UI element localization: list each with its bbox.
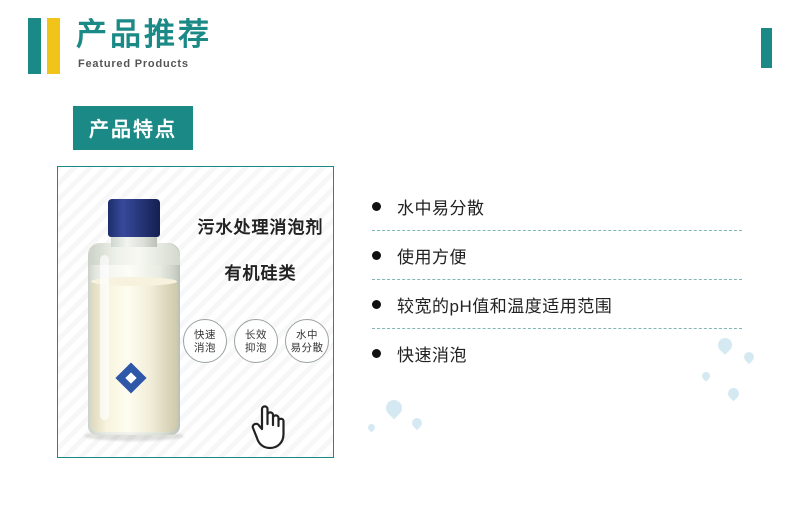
feature-text: 快速消泡 [397,341,467,366]
feature-text: 较宽的pH值和温度适用范围 [397,292,612,317]
list-item: 使用方便 [372,231,742,280]
water-droplet-icon [726,386,742,402]
header-accent-bar-right [761,28,772,68]
bottle-highlight [100,255,109,420]
feature-text: 使用方便 [397,243,467,268]
badge-water-dispersible: 水中 易分散 [285,319,329,363]
product-bottle-illustration [80,199,188,439]
page-title: 产品推荐 [76,16,212,54]
feature-list: 水中易分散 使用方便 较宽的pH值和温度适用范围 快速消泡 [372,182,742,377]
badge-line-2: 消泡 [184,342,226,355]
water-droplet-icon [742,350,756,364]
bullet-icon [372,300,381,309]
product-type: 有机硅类 [188,259,333,284]
badge-line-1: 长效 [235,329,277,342]
product-name: 污水处理消泡剂 [188,213,333,238]
badge-long-lasting: 长效 抑泡 [234,319,278,363]
header-accent-bar-teal [28,18,41,74]
section-title: 产品特点 [73,106,193,150]
bullet-icon [372,251,381,260]
page-subtitle: Featured Products [78,58,189,70]
bullet-icon [372,202,381,211]
badge-line-2: 抑泡 [235,342,277,355]
water-droplet-icon [410,416,424,430]
bullet-icon [372,349,381,358]
product-badges: 快速 消泡 长效 抑泡 水中 易分散 [183,319,333,369]
badge-fast-defoam: 快速 消泡 [183,319,227,363]
product-image-panel: 污水处理消泡剂 有机硅类 快速 消泡 长效 抑泡 水中 易分散 [57,166,334,458]
bottle-cap [108,199,160,237]
water-droplet-icon [367,423,377,433]
header-accent-bar-yellow [47,18,60,74]
water-droplet-icon [383,397,406,420]
hand-cursor-icon [248,399,292,451]
list-item: 快速消泡 [372,329,742,377]
badge-line-1: 水中 [286,329,328,342]
list-item: 水中易分散 [372,182,742,231]
feature-text: 水中易分散 [397,194,485,219]
badge-line-2: 易分散 [286,342,328,355]
list-item: 较宽的pH值和温度适用范围 [372,280,742,329]
page-header: 产品推荐 Featured Products [0,0,800,90]
badge-line-1: 快速 [184,329,226,342]
